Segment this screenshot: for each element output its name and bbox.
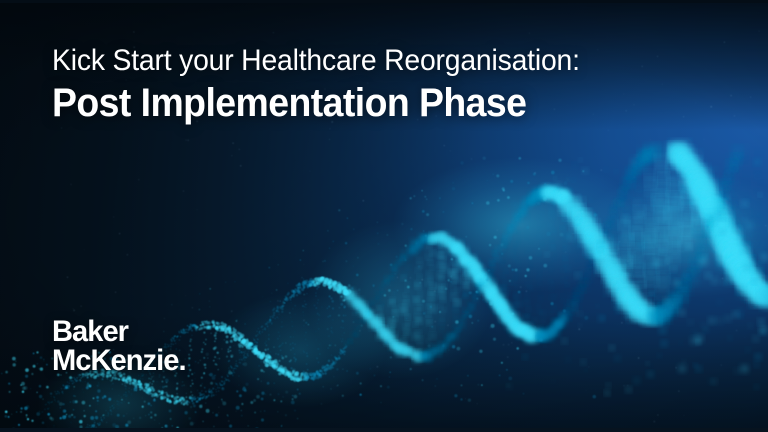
baker-mckenzie-logo: Baker McKenzie. [52,318,190,376]
logo-line-baker: Baker [52,318,186,347]
logo-period: . [178,344,185,377]
presentation-slide: Kick Start your Healthcare Reorganisatio… [0,0,768,432]
logo-line-mckenzie: McKenzie. [52,347,186,376]
letterbox-bar-top [0,0,768,3]
title-line-1: Kick Start your Healthcare Reorganisatio… [52,45,580,77]
letterbox-bar-bottom [0,428,768,432]
logo-mckenzie-text: McKenzie [52,344,178,377]
slide-title-block: Kick Start your Healthcare Reorganisatio… [52,45,611,126]
title-line-2: Post Implementation Phase [52,81,574,126]
